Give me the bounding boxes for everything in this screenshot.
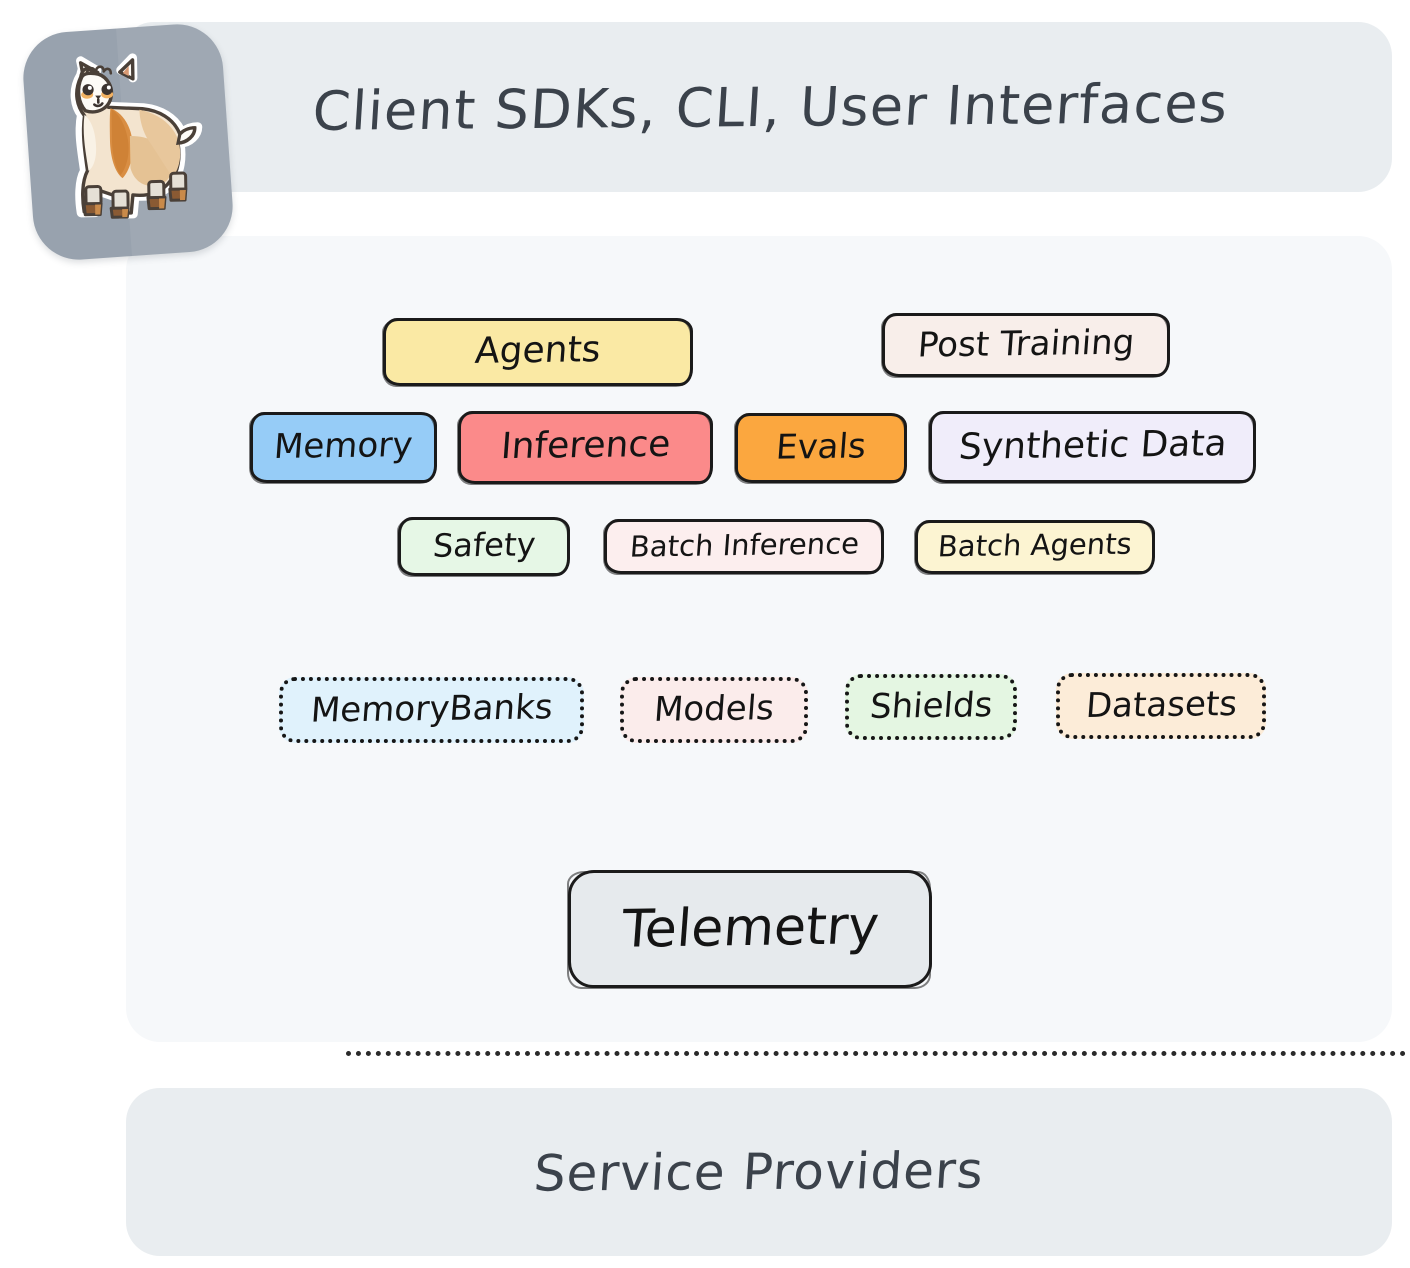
- node-label: Telemetry: [620, 900, 881, 959]
- node-label: Batch Agents: [937, 530, 1133, 565]
- resource-node-shields[interactable]: Shields: [845, 674, 1017, 740]
- service-providers-title: Service Providers: [532, 1141, 985, 1202]
- node-label: Inference: [499, 427, 671, 468]
- llama-stack-api-container: AgentsPost TrainingMemoryInferenceEvalsS…: [126, 236, 1392, 1042]
- node-label: MemoryBanks: [309, 690, 553, 730]
- api-node-safety[interactable]: Safety: [398, 517, 570, 576]
- node-label: Shields: [868, 688, 993, 727]
- node-label: Evals: [775, 429, 867, 467]
- api-node-synthetic-data[interactable]: Synthetic Data: [929, 411, 1256, 483]
- llama-icon: [50, 47, 205, 238]
- diagram-canvas: Client SDKs, CLI, User Interfaces: [0, 0, 1410, 1268]
- api-node-batch-agents[interactable]: Batch Agents: [915, 520, 1155, 574]
- api-node-agents[interactable]: Agents: [383, 318, 693, 386]
- api-node-post-training[interactable]: Post Training: [882, 313, 1170, 377]
- resource-node-memorybanks[interactable]: MemoryBanks: [279, 677, 584, 743]
- client-layer-band: Client SDKs, CLI, User Interfaces: [120, 22, 1392, 192]
- dotted-divider: [346, 1051, 1410, 1056]
- resource-node-datasets[interactable]: Datasets: [1056, 673, 1266, 739]
- node-label: Batch Inference: [628, 529, 859, 564]
- node-label: Post Training: [916, 325, 1135, 365]
- api-node-inference[interactable]: Inference: [458, 411, 713, 484]
- service-providers-band: Service Providers: [126, 1088, 1392, 1256]
- api-node-evals[interactable]: Evals: [735, 413, 907, 483]
- resource-node-models[interactable]: Models: [620, 677, 808, 743]
- node-label: Datasets: [1084, 686, 1238, 725]
- node-label: Models: [653, 691, 776, 730]
- api-node-batch-inference[interactable]: Batch Inference: [604, 519, 884, 574]
- node-label: Memory: [273, 428, 414, 467]
- node-label: Synthetic Data: [957, 426, 1228, 469]
- client-layer-title: Client SDKs, CLI, User Interfaces: [281, 71, 1230, 142]
- api-node-memory[interactable]: Memory: [250, 412, 437, 483]
- telemetry-node[interactable]: Telemetry: [568, 870, 932, 988]
- node-label: Safety: [431, 528, 536, 564]
- node-label: Agents: [474, 332, 602, 373]
- llama-logo-badge: [20, 21, 235, 262]
